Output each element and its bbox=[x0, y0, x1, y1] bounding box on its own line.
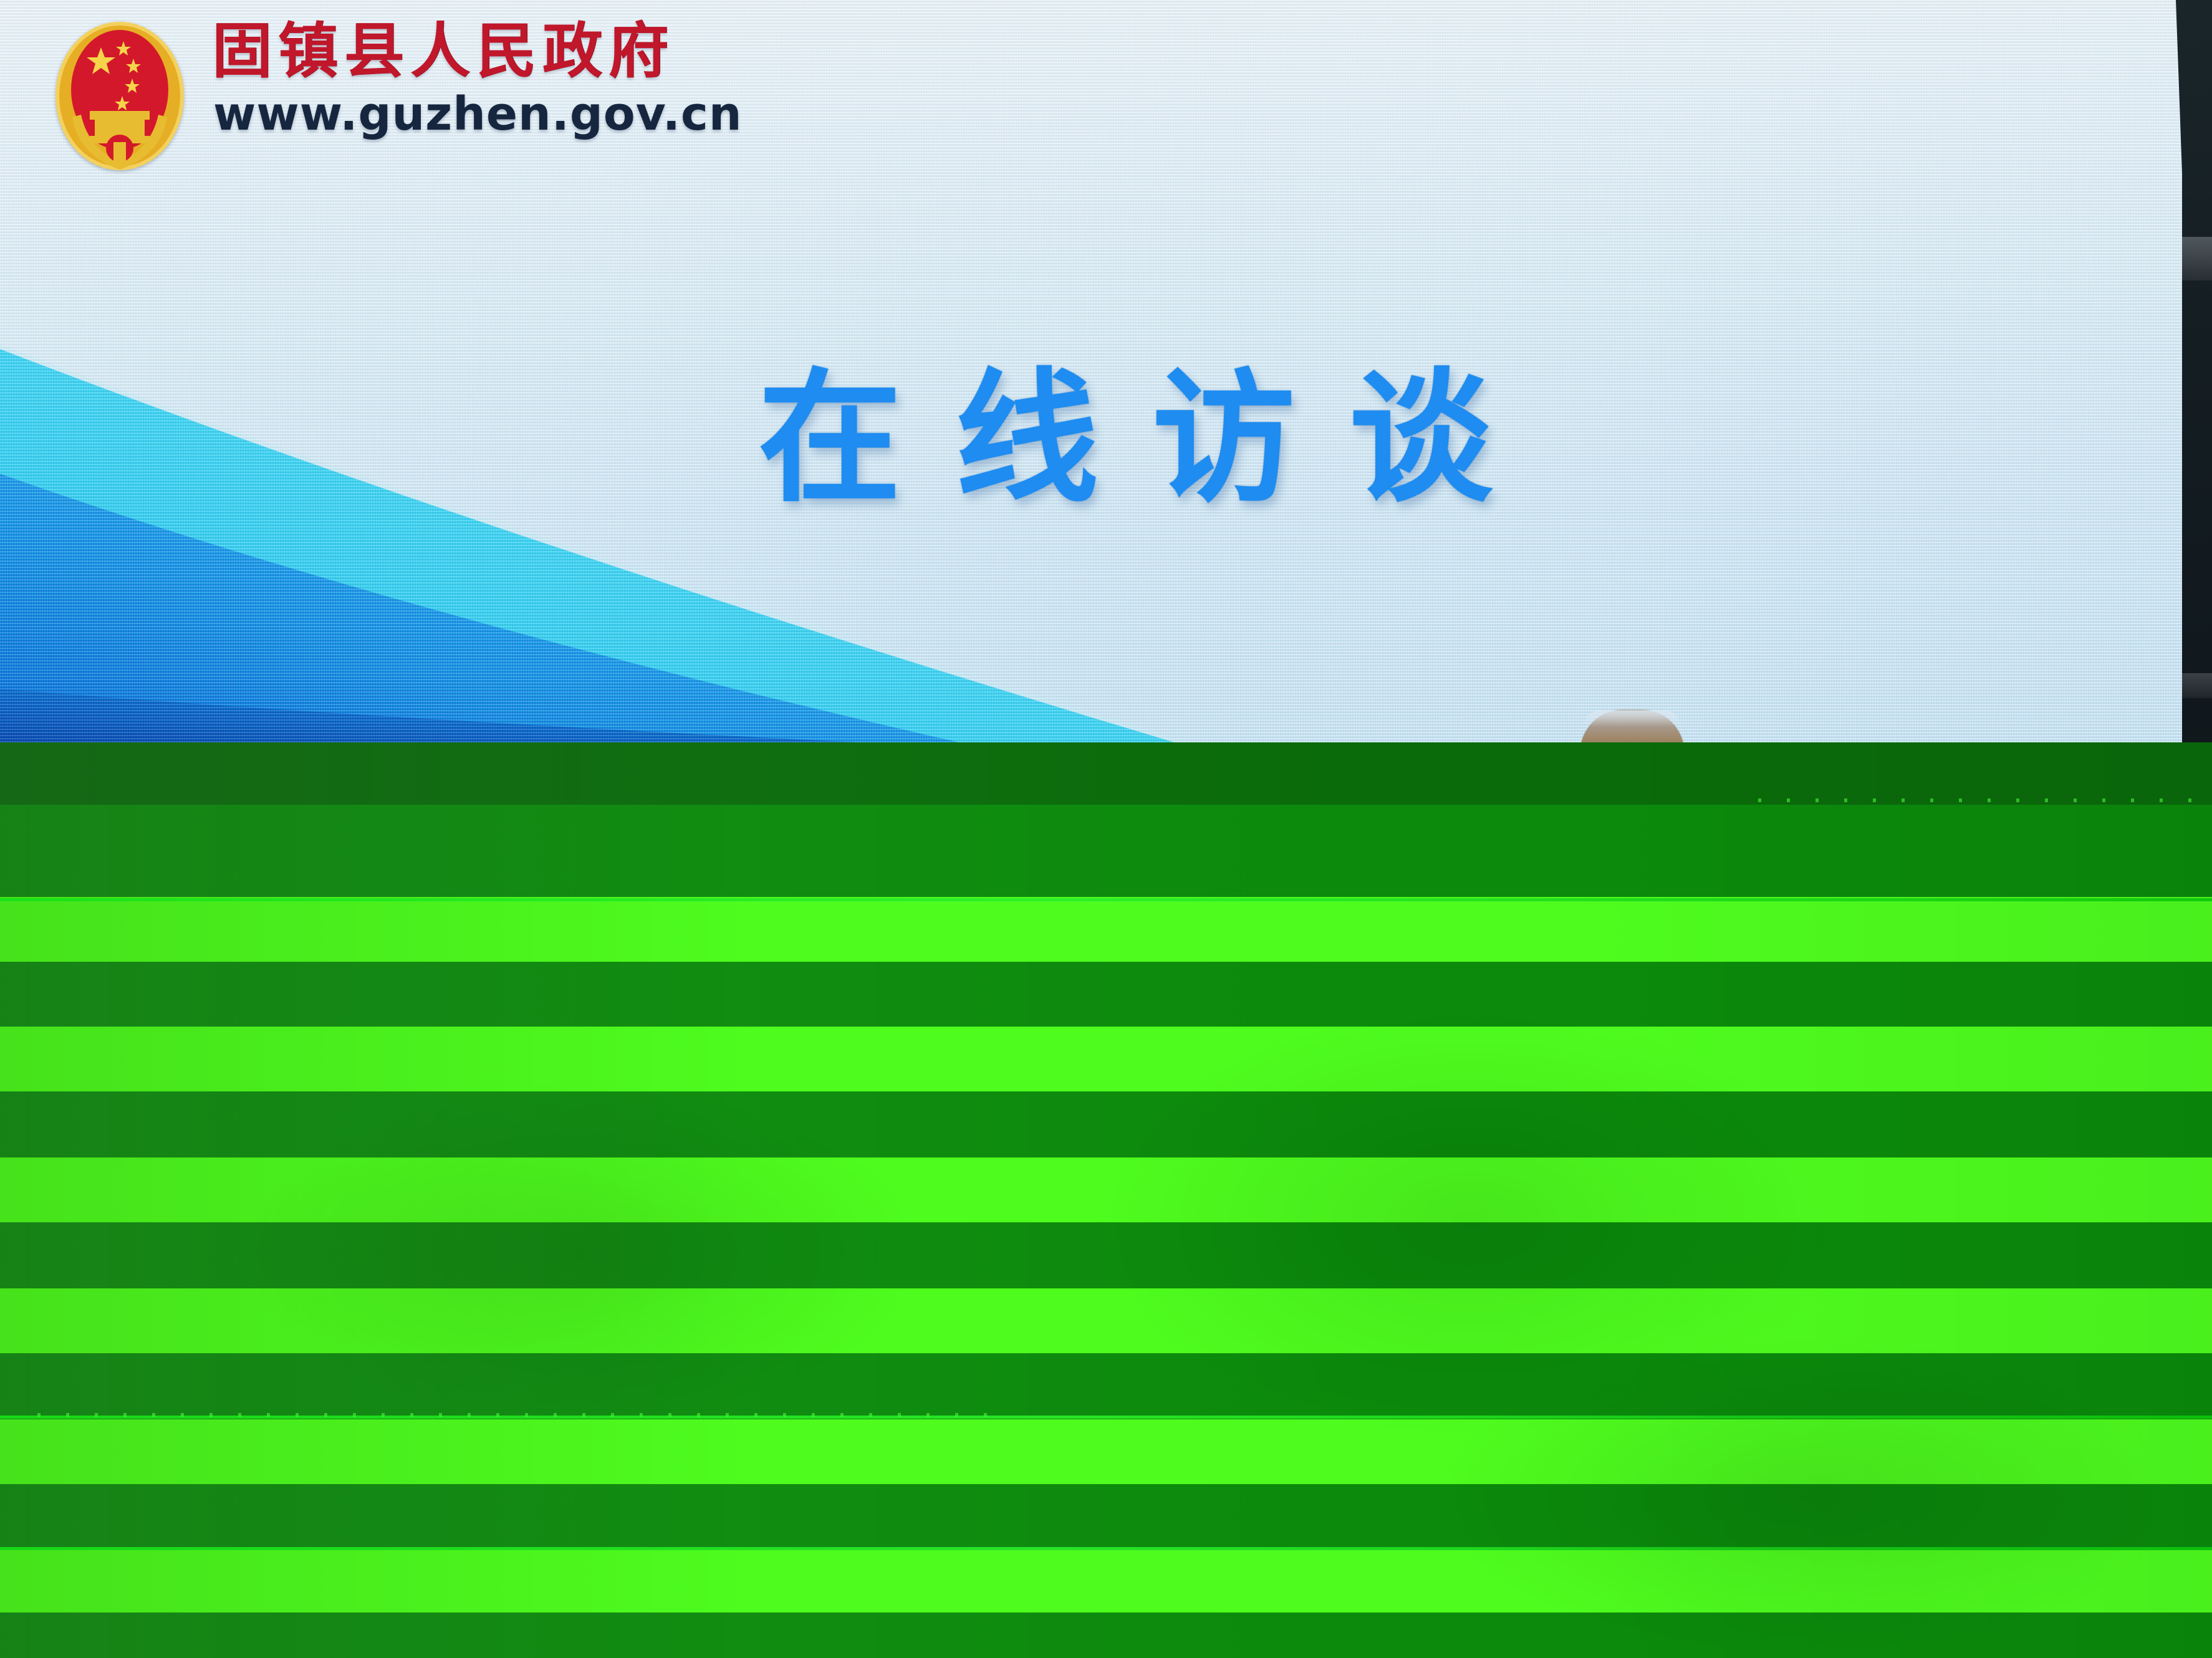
glitch-band bbox=[0, 1612, 2212, 1658]
glitch-band bbox=[0, 1484, 2212, 1550]
glitch-band bbox=[0, 1419, 2212, 1484]
government-name: 固镇县人民政府 bbox=[212, 21, 743, 82]
glitch-dot-row bbox=[37, 1413, 1010, 1417]
video-glitch-bands bbox=[0, 742, 2212, 1658]
glitch-band-shading bbox=[0, 1550, 2212, 1612]
glitch-band bbox=[0, 1157, 2212, 1222]
government-website-url: www.guzhen.gov.cn bbox=[213, 91, 743, 137]
glitch-band-shading bbox=[0, 1027, 2212, 1091]
glitch-band-shading bbox=[0, 897, 2212, 962]
glitch-band bbox=[0, 1091, 2212, 1157]
glitch-band-shading bbox=[0, 1419, 2212, 1484]
glitch-band bbox=[0, 962, 2212, 1027]
government-logo-lockup: 固镇县人民政府 www.guzhen.gov.cn bbox=[54, 12, 743, 175]
glitch-band bbox=[0, 805, 2212, 897]
glitch-hairline bbox=[0, 898, 2212, 901]
screen-title: 在线访谈 bbox=[0, 368, 2182, 511]
glitch-band-smear bbox=[0, 1484, 1372, 1550]
glitch-band-smear bbox=[0, 1222, 1372, 1288]
glitch-band-smear bbox=[0, 962, 1372, 1027]
glitch-band-smear bbox=[0, 1353, 1372, 1419]
glitch-hairline bbox=[0, 1547, 2212, 1550]
logo-text-block: 固镇县人民政府 www.guzhen.gov.cn bbox=[212, 12, 743, 137]
glitch-band bbox=[0, 1027, 2212, 1091]
glitch-band-shading bbox=[0, 1288, 2212, 1353]
glitch-band-smear bbox=[0, 1091, 1372, 1157]
glitch-band-smear bbox=[0, 805, 1372, 897]
glitch-band bbox=[0, 1288, 2212, 1353]
glitch-band bbox=[0, 742, 2212, 805]
glitch-band bbox=[0, 1550, 2212, 1612]
screenshot-stage: 固镇县人民政府 www.guzhen.gov.cn 在线访谈 bbox=[0, 0, 2212, 1658]
glitch-band-shading bbox=[0, 1157, 2212, 1222]
glitch-band-smear bbox=[0, 1612, 1372, 1658]
glitch-dot-row bbox=[1758, 798, 2212, 802]
glitch-band bbox=[0, 1353, 2212, 1419]
glitch-band-smear bbox=[0, 742, 1372, 805]
glitch-band bbox=[0, 1222, 2212, 1288]
glitch-band bbox=[0, 897, 2212, 962]
led-video-wall: 固镇县人民政府 www.guzhen.gov.cn 在线访谈 bbox=[0, 0, 2182, 745]
national-emblem-icon bbox=[54, 20, 186, 175]
person-head-silhouette bbox=[1580, 709, 1685, 745]
